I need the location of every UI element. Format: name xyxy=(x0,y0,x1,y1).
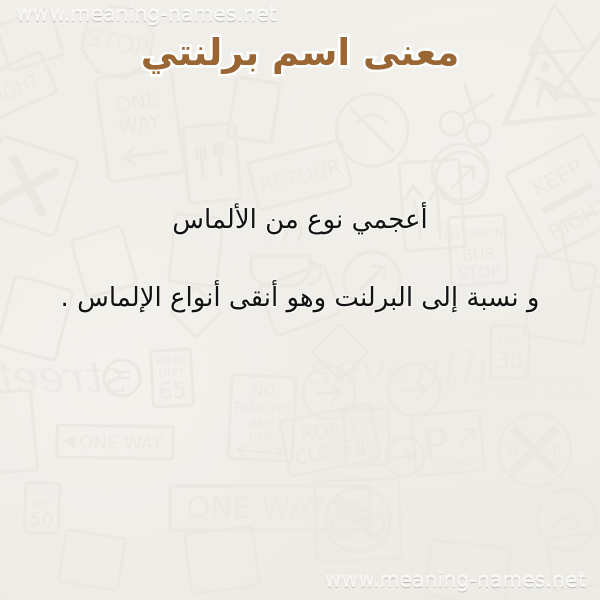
svg-text:NO: NO xyxy=(251,381,275,400)
svg-text:ANY: ANY xyxy=(249,416,275,431)
svg-text:SPEED: SPEED xyxy=(29,489,55,499)
meaning-line-2: و نسبة إلى البرلنت وهو أنقى أنواع الإلما… xyxy=(0,283,600,314)
name-meaning-text: أعجمي نوع من الألماس و نسبة إلى البرلنت … xyxy=(0,205,600,314)
svg-text:65: 65 xyxy=(158,378,187,404)
svg-text:street: street xyxy=(0,352,126,403)
watermark-bottom: www.meaning-names.net xyxy=(325,568,586,592)
svg-text:30: 30 xyxy=(496,349,523,373)
svg-text:R: R xyxy=(508,444,518,460)
page-title: معنى اسم برلنتي xyxy=(0,29,600,76)
svg-text:LIMIT: LIMIT xyxy=(498,337,522,347)
svg-text:TIME: TIME xyxy=(245,430,276,446)
svg-text:ONE WAY: ONE WAY xyxy=(79,432,164,454)
meaning-line-1: أعجمي نوع من الألماس xyxy=(0,205,600,236)
svg-text:ONE WAY: ONE WAY xyxy=(186,491,326,526)
svg-text:R: R xyxy=(552,444,562,460)
svg-text:PARKING: PARKING xyxy=(234,401,292,419)
svg-text:50: 50 xyxy=(29,509,54,532)
line-spacer xyxy=(0,236,600,283)
watermark-top: www.meaning-names.net xyxy=(16,2,277,26)
svg-text:SPEED: SPEED xyxy=(155,355,189,368)
page-canvas: ONE WAY STOP RIGHT xyxy=(0,0,600,600)
svg-text:LIMIT: LIMIT xyxy=(32,499,53,509)
svg-text:WAY: WAY xyxy=(117,109,164,139)
